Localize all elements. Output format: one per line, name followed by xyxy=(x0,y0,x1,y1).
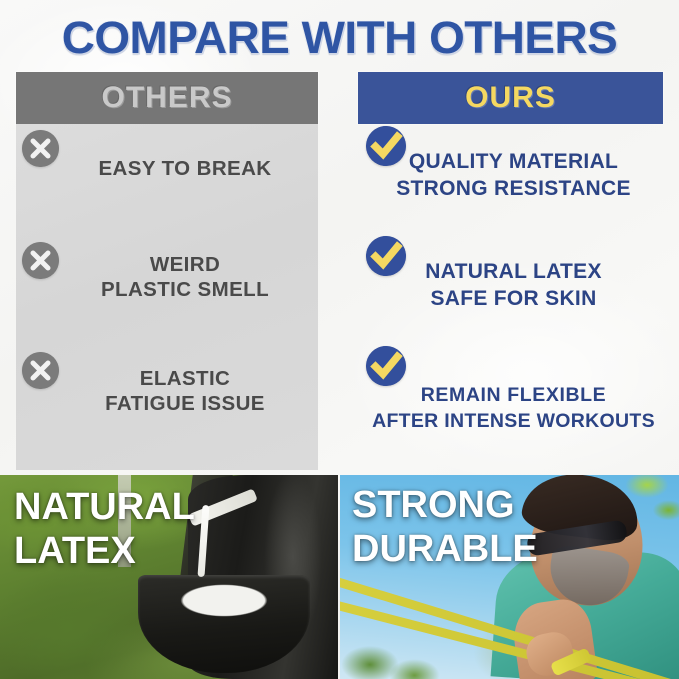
ours-item-3: REMAIN FLEXIBLE AFTER INTENSE WORKOUTS xyxy=(358,346,663,434)
text-line: PLASTIC SMELL xyxy=(60,277,310,302)
caption-line: NATURAL xyxy=(14,485,195,529)
others-panel: EASY TO BREAK WEIRD PLASTIC SMELL xyxy=(16,124,318,470)
caption-line: STRONG xyxy=(352,483,538,527)
others-heading-label: OTHERS xyxy=(101,81,232,115)
others-item-2-text: WEIRD PLASTIC SMELL xyxy=(16,242,318,302)
photo-natural-latex: NATURAL LATEX xyxy=(0,475,338,679)
check-circle-icon xyxy=(366,126,406,171)
others-item-2: WEIRD PLASTIC SMELL xyxy=(16,242,318,302)
photo-strong-durable: STRONG DURABLE xyxy=(340,475,679,679)
text-line: AFTER INTENSE WORKOUTS xyxy=(368,408,659,434)
others-column: OTHERS EASY TO BREAK xyxy=(16,72,318,470)
ours-column: OURS QUALITY MATERIAL STRONG RESISTANCE xyxy=(358,72,663,470)
ours-item-1: QUALITY MATERIAL STRONG RESISTANCE xyxy=(358,126,663,202)
text-line: EASY TO BREAK xyxy=(60,156,310,181)
text-line: REMAIN FLEXIBLE xyxy=(368,382,659,408)
photo-caption-natural-latex: NATURAL LATEX xyxy=(14,485,195,573)
text-line: QUALITY MATERIAL xyxy=(368,148,659,175)
text-line: WEIRD xyxy=(60,252,310,277)
others-heading-bar: OTHERS xyxy=(16,72,318,124)
ours-heading-bar: OURS xyxy=(358,72,663,124)
text-line: NATURAL LATEX xyxy=(368,258,659,285)
page-title: COMPARE WITH OTHERS xyxy=(0,11,679,65)
photo-strip: NATURAL LATEX STRONG DURABLE xyxy=(0,475,679,679)
text-line: SAFE FOR SKIN xyxy=(368,285,659,312)
ours-item-2: NATURAL LATEX SAFE FOR SKIN xyxy=(358,236,663,312)
others-item-3-text: ELASTIC FATIGUE ISSUE xyxy=(16,352,318,416)
check-circle-icon xyxy=(366,346,406,391)
x-circle-icon xyxy=(22,242,59,284)
others-item-3: ELASTIC FATIGUE ISSUE xyxy=(16,352,318,416)
others-item-1-text: EASY TO BREAK xyxy=(16,130,318,181)
caption-line: LATEX xyxy=(14,529,195,573)
infographic-page: COMPARE WITH OTHERS OTHERS EASY TO BREAK xyxy=(0,0,679,679)
x-circle-icon xyxy=(22,352,59,394)
text-line: STRONG RESISTANCE xyxy=(368,175,659,202)
check-circle-icon xyxy=(366,236,406,281)
photo-caption-strong-durable: STRONG DURABLE xyxy=(352,483,538,571)
text-line: FATIGUE ISSUE xyxy=(60,391,310,416)
caption-line: DURABLE xyxy=(352,527,538,571)
others-item-1: EASY TO BREAK xyxy=(16,130,318,181)
text-line: ELASTIC xyxy=(60,366,310,391)
x-circle-icon xyxy=(22,130,59,172)
ours-heading-label: OURS xyxy=(465,81,556,115)
ours-panel: QUALITY MATERIAL STRONG RESISTANCE NATUR… xyxy=(358,124,663,470)
